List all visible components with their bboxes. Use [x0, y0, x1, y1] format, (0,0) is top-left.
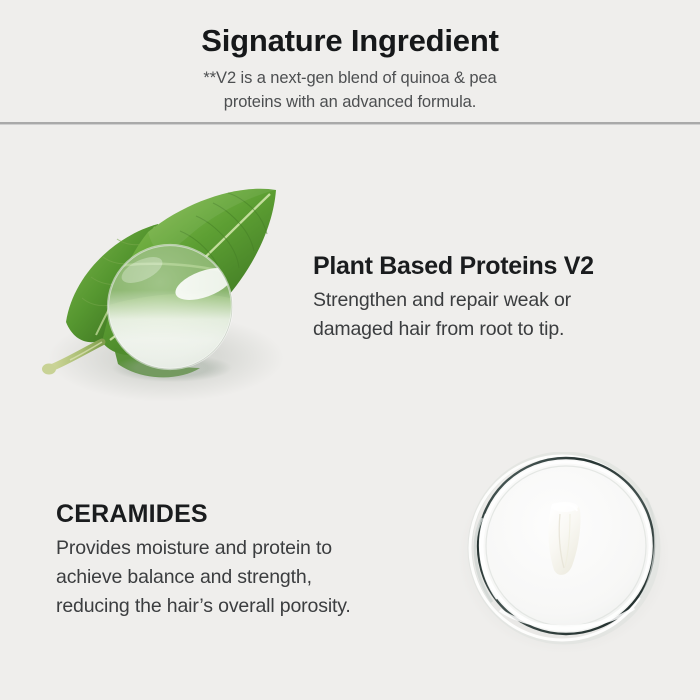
section-body-line-3: reducing the hair’s overall porosity. [56, 595, 351, 617]
section-title-ceramides: CERAMIDES [56, 498, 446, 530]
header-section: Signature Ingredient **V2 is a next-gen … [0, 0, 700, 122]
header-subtitle-line-1: **V2 is a next-gen blend of quinoa & pea [203, 69, 496, 87]
section-body-line-2: achieve balance and strength, [56, 566, 312, 588]
section-plant-based-proteins-text: Plant Based Proteins V2 Strengthen and r… [313, 250, 673, 344]
leaf-droplet-image [18, 172, 306, 412]
section-ceramides-text: CERAMIDES Provides moisture and protein … [56, 498, 446, 621]
section-title-plant-based-proteins: Plant Based Proteins V2 [313, 250, 673, 282]
header-subtitle-line-2: proteins with an advanced formula. [224, 93, 477, 111]
header-divider-shadow [0, 124, 700, 125]
section-body-line-2: damaged hair from root to tip. [313, 318, 564, 340]
page-title: Signature Ingredient [0, 22, 700, 60]
section-body-line-1: Provides moisture and protein to [56, 537, 332, 559]
header-subtitle: **V2 is a next-gen blend of quinoa & pea… [150, 66, 550, 114]
section-body-ceramides: Provides moisture and protein to achieve… [56, 534, 446, 621]
petri-dish-image [448, 452, 688, 652]
section-body-line-1: Strengthen and repair weak or [313, 289, 571, 311]
product-ingredient-infographic: Signature Ingredient **V2 is a next-gen … [0, 0, 700, 700]
section-body-plant-based-proteins: Strengthen and repair weak or damaged ha… [313, 286, 673, 344]
